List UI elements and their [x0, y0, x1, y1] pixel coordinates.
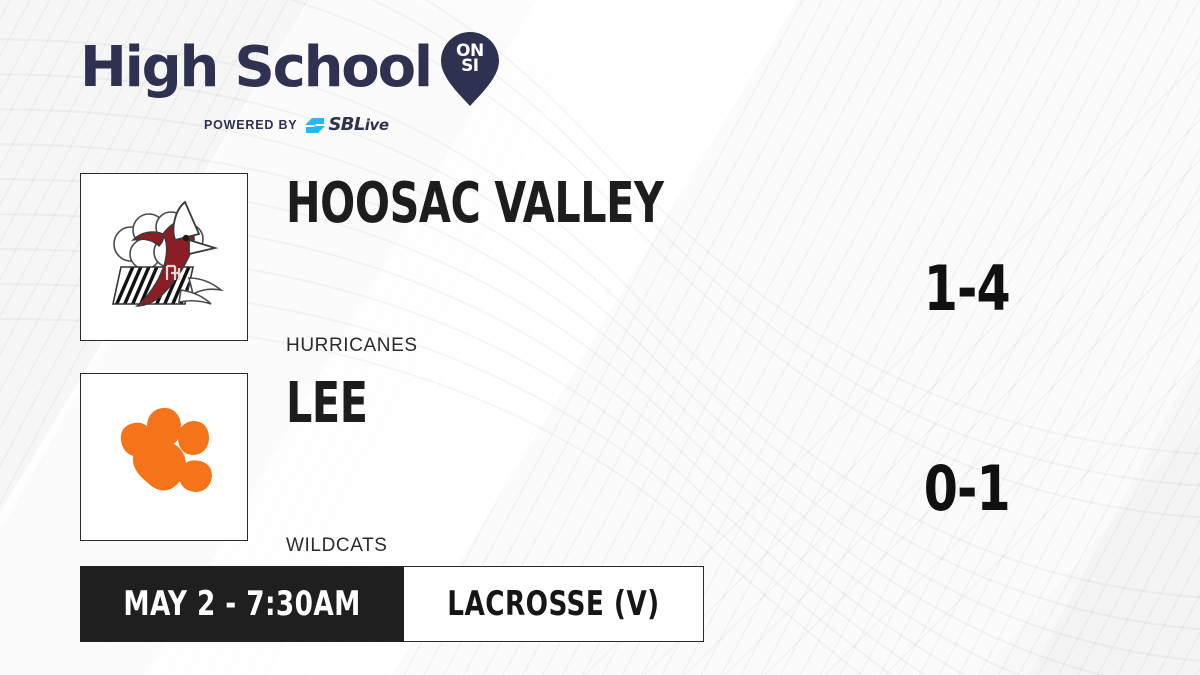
pin-line-si: SI — [441, 59, 499, 74]
away-team-score: 1-4 — [924, 258, 1010, 320]
home-team-score: 0-1 — [924, 458, 1010, 520]
scoreboard-card: High School ON SI POWERED BY SBLive — [0, 0, 1200, 675]
brand-subline: POWERED BY SBLive — [80, 116, 510, 134]
sblive-wordmark: SBLive — [328, 116, 388, 134]
background-wedge-right — [946, 0, 1200, 675]
game-sport-chip: LACROSSE (V) — [404, 566, 704, 642]
hoosac-valley-hurricanes-logo — [89, 182, 239, 332]
game-datetime-label: MAY 2 - 7:30AM — [123, 587, 360, 621]
brand-header: High School ON SI POWERED BY SBLive — [80, 30, 510, 134]
game-sport-label: LACROSSE (V) — [447, 587, 659, 621]
lee-wildcats-paw-logo — [100, 393, 228, 521]
away-team-name: HOOSAC VALLEY — [286, 173, 811, 235]
away-team-mascot: HURRICANES — [286, 335, 418, 357]
page-title: High School — [80, 40, 431, 96]
game-info-bar: MAY 2 - 7:30AM LACROSSE (V) — [80, 566, 704, 642]
sblive-word-bold: SBL — [328, 114, 364, 135]
sblive-s-mark-icon — [305, 117, 325, 134]
game-datetime-chip: MAY 2 - 7:30AM — [80, 566, 404, 642]
away-team-logo-box[interactable] — [80, 173, 248, 341]
home-team-logo-box[interactable] — [80, 373, 248, 541]
sblive-word-italic: ive — [365, 116, 389, 134]
away-team-text: HOOSAC VALLEY — [286, 173, 926, 235]
home-team-name: LEE — [286, 373, 811, 435]
home-team-text: LEE — [286, 373, 926, 435]
sblive-logo: SBLive — [305, 116, 388, 134]
pin-text: ON SI — [441, 44, 499, 74]
powered-by-label: POWERED BY — [204, 118, 297, 132]
home-team-mascot: WILDCATS — [286, 535, 388, 557]
map-pin-icon: ON SI — [441, 32, 499, 106]
brand-title-row: High School ON SI — [80, 30, 510, 106]
